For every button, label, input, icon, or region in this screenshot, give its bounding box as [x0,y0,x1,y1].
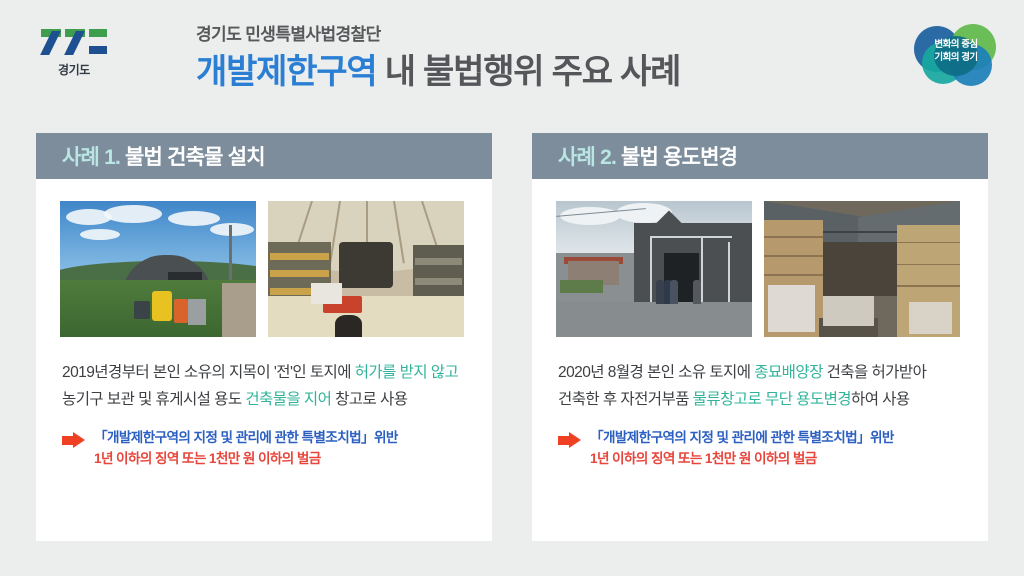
desc-seg: 2019년경부터 본인 소유의 지목이 '전'인 토지에 [62,364,355,381]
case-card-2-description: 2020년 8월경 본인 소유 토지에 종묘배양장 건축을 허가받아 건축한 후… [532,337,988,413]
case-card-2-photos [532,179,988,337]
case-card-2-penalty-text: 「개발제한구역의 지정 및 관리에 관한 특별조치법」위반 1년 이하의 징역 … [590,427,894,469]
arrow-right-icon [558,432,582,449]
penalty-fine-line: 1년 이하의 징역 또는 1천만 원 이하의 벌금 [590,448,894,469]
gyeonggi-brand-logo: 변화의 중심 기회의 경기 [914,18,998,90]
case-card-2-header: 사례 2. 불법 용도변경 [532,133,988,179]
brand-logo-text: 변화의 중심 기회의 경기 [914,38,998,64]
photo-grey-warehouse-exterior [556,201,752,337]
case-card-2-title-text: 불법 용도변경 [616,146,737,169]
desc-seg-highlight: 허가를 받지 않고 [355,364,458,381]
photo-logistics-boxes-interior [764,201,960,337]
brand-logo-line-2: 기회의 경기 [914,51,998,64]
case-card-2-number: 사례 2. [558,146,616,169]
case-card-1-header: 사례 1. 불법 건축물 설치 [36,133,492,179]
page-title-highlight: 개발제한구역 [196,53,376,91]
header-title-block: 경기도 민생특별사법경찰단 개발제한구역 내 불법행위 주요 사례 [196,24,680,93]
desc-seg-highlight: 종묘배양장 [754,364,823,381]
desc-seg-highlight: 물류창고로 무단 용도변경 [693,391,851,408]
gyeonggi-logo-label: 경기도 [58,61,90,78]
gyeonggi-logo-mark [39,26,109,56]
photo-outdoor-arched-warehouse [60,201,256,337]
penalty-law-line: 「개발제한구역의 지정 및 관리에 관한 특별조치법」위반 [590,427,894,448]
case-card-2: 사례 2. 불법 용도변경 [532,133,988,541]
desc-seg: 2020년 8월경 본인 소유 토지에 [558,364,754,381]
case-card-1: 사례 1. 불법 건축물 설치 [36,133,492,541]
case-card-1-description: 2019년경부터 본인 소유의 지목이 '전'인 토지에 허가를 받지 않고 농… [36,337,492,413]
case-card-1-photos [36,179,492,337]
case-card-2-title: 사례 2. 불법 용도변경 [558,141,737,171]
penalty-law-line: 「개발제한구역의 지정 및 관리에 관한 특별조치법」위반 [94,427,398,448]
gyeonggi-do-logo: 경기도 [33,26,115,88]
case-card-1-penalty: 「개발제한구역의 지정 및 관리에 관한 특별조치법」위반 1년 이하의 징역 … [36,413,492,469]
page-title: 개발제한구역 내 불법행위 주요 사례 [196,51,680,93]
arrow-right-icon [62,432,86,449]
page-title-rest: 내 불법행위 주요 사례 [376,53,680,91]
desc-seg: 농기구 보관 및 휴게시설 용도 [62,391,245,408]
case-card-2-penalty: 「개발제한구역의 지정 및 관리에 관한 특별조치법」위반 1년 이하의 징역 … [532,413,988,469]
desc-seg: 창고로 사용 [331,391,407,408]
header-subtitle: 경기도 민생특별사법경찰단 [196,24,680,46]
case-card-1-title: 사례 1. 불법 건축물 설치 [62,141,265,171]
photo-warehouse-interior-storage [268,201,464,337]
page-header: 경기도 경기도 민생특별사법경찰단 개발제한구역 내 불법행위 주요 사례 변화… [0,0,1024,118]
case-card-1-penalty-text: 「개발제한구역의 지정 및 관리에 관한 특별조치법」위반 1년 이하의 징역 … [94,427,398,469]
case-card-1-title-text: 불법 건축물 설치 [120,146,265,169]
case-card-1-number: 사례 1. [62,146,120,169]
brand-logo-line-1: 변화의 중심 [914,38,998,51]
desc-seg-highlight: 건축물을 지어 [245,391,331,408]
desc-seg: 하여 사용 [851,391,910,408]
penalty-fine-line: 1년 이하의 징역 또는 1천만 원 이하의 벌금 [94,448,398,469]
